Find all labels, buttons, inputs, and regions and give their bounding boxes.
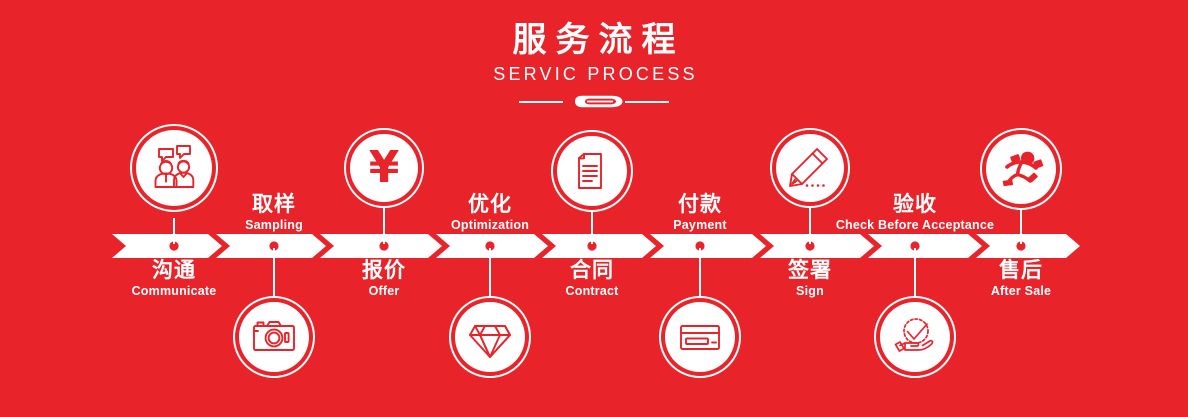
two-people-speech-bubbles-icon [147, 141, 201, 195]
step-label: 报价 Offer [362, 258, 406, 299]
connector-stem [591, 212, 593, 244]
connector-stem [914, 248, 916, 296]
page-title-cn: 服务流程 [9, 20, 1188, 60]
step-label: 取样 Sampling [245, 192, 303, 233]
running-delivery-person-icon [997, 145, 1045, 193]
circle-disc [986, 134, 1056, 204]
connector-stem [489, 248, 491, 296]
step-icon-circle[interactable] [874, 296, 956, 378]
step-icon-circle[interactable] [980, 128, 1062, 210]
step-icon-circle[interactable] [233, 296, 315, 378]
ornament-line-left [519, 101, 563, 103]
step-label: 签署 Sign [788, 258, 832, 299]
circle-disc [239, 302, 309, 372]
step-icon-circle[interactable] [659, 296, 741, 378]
connector-stem [273, 248, 275, 296]
hand-checkmark-badge-icon [891, 313, 939, 361]
circle-disc [136, 130, 212, 206]
process-arrow-band [112, 234, 1080, 258]
step-label: 沟通 Communicate [132, 258, 217, 299]
step-icon-circle[interactable] [551, 130, 633, 212]
step-label-cn: 报价 [362, 258, 406, 283]
step-label: 验收 Check Before Acceptance [836, 192, 994, 233]
step-label-en: Optimization [451, 217, 529, 233]
step-label-cn: 售后 [991, 258, 1051, 283]
connector-stem [699, 248, 701, 296]
step-label-cn: 付款 [673, 192, 727, 217]
step-icon-circle[interactable] [449, 296, 531, 378]
step-label-en: After Sale [991, 283, 1051, 299]
step-icon-circle[interactable] [130, 124, 218, 212]
camera-icon [250, 313, 298, 361]
step-label-en: Sampling [245, 217, 303, 233]
step-label-en: Check Before Acceptance [836, 217, 994, 233]
paperclip-icon [563, 95, 625, 108]
page-title-en: SERVIC PROCESS [3, 62, 1188, 86]
step-label-en: Payment [673, 217, 727, 233]
document-contract-icon [569, 148, 615, 194]
step-label-cn: 优化 [451, 192, 529, 217]
paperclip-ornament [519, 95, 669, 109]
connector-stem [1020, 210, 1022, 244]
step-label: 合同 Contract [566, 258, 619, 299]
step-label-cn: 合同 [566, 258, 619, 283]
pencil-signature-icon [787, 145, 833, 191]
circle-disc: ¥ [350, 134, 418, 202]
yen-currency-icon: ¥ [369, 146, 400, 190]
circle-disc [665, 302, 735, 372]
step-label-cn: 签署 [788, 258, 832, 283]
circle-disc [880, 302, 950, 372]
connector-stem [383, 208, 385, 244]
ornament-line-right [625, 101, 669, 103]
step-label-en: Offer [362, 283, 406, 299]
diamond-gem-icon [466, 313, 514, 361]
infographic-canvas: 服务流程 SERVIC PROCESS [0, 0, 1188, 417]
step-label-en: Contract [566, 283, 619, 299]
circle-disc [776, 134, 844, 202]
step-icon-circle[interactable]: ¥ [344, 128, 424, 208]
step-label: 售后 After Sale [991, 258, 1051, 299]
step-label-en: Communicate [132, 283, 217, 299]
step-label-cn: 验收 [836, 192, 994, 217]
connector-stem [809, 208, 811, 244]
connector-stem [173, 218, 175, 244]
circle-disc [557, 136, 627, 206]
credit-card-icon [676, 313, 724, 361]
step-label: 付款 Payment [673, 192, 727, 233]
step-label-cn: 取样 [245, 192, 303, 217]
circle-disc [455, 302, 525, 372]
header: 服务流程 SERVIC PROCESS [0, 20, 1188, 109]
step-label-cn: 沟通 [132, 258, 217, 283]
step-label: 优化 Optimization [451, 192, 529, 233]
step-label-en: Sign [788, 283, 832, 299]
